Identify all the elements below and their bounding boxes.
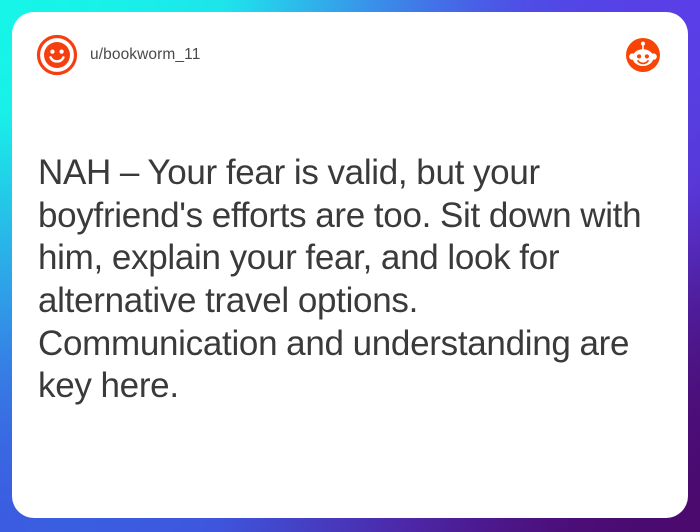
post-text: NAH – Your fear is valid, but your boyfr… <box>38 152 664 408</box>
reddit-snoo-logo-icon[interactable] <box>626 38 660 72</box>
card-header: u/bookworm_11 <box>12 12 688 98</box>
reddit-post-card: u/bookworm_11 <box>12 12 688 518</box>
user-identity-block[interactable]: u/bookworm_11 <box>36 34 200 76</box>
card-body: NAH – Your fear is valid, but your boyfr… <box>38 152 664 408</box>
screenshot-canvas: u/bookworm_11 <box>0 0 700 532</box>
username-label: u/bookworm_11 <box>90 46 200 64</box>
smiley-face-avatar-icon <box>36 34 78 76</box>
